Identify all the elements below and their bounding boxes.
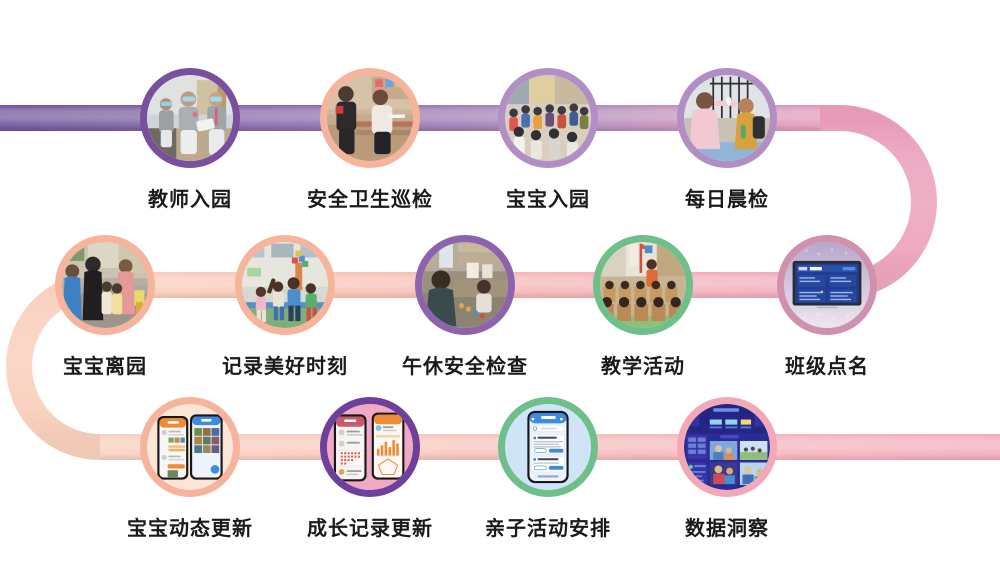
node-label: 亲子活动安排 xyxy=(485,512,611,541)
photo-nap-safety xyxy=(422,242,508,328)
timeline-node xyxy=(140,68,240,168)
node-label: 记录美好时刻 xyxy=(222,350,348,379)
node-label: 教学活动 xyxy=(601,350,685,379)
timeline-node xyxy=(140,397,240,497)
timeline-node xyxy=(55,235,155,335)
photo-teaching-activity xyxy=(600,242,686,328)
photo-safety-inspection xyxy=(327,75,413,161)
timeline-node xyxy=(320,68,420,168)
timeline-node xyxy=(677,397,777,497)
timeline-node xyxy=(415,235,515,335)
timeline-node xyxy=(235,235,335,335)
node-ring[interactable] xyxy=(235,235,335,335)
node-ring[interactable] xyxy=(677,397,777,497)
photo-class-rollcall xyxy=(784,242,870,328)
node-ring[interactable] xyxy=(498,397,598,497)
timeline-node xyxy=(777,235,877,335)
photo-data-insight xyxy=(684,404,770,490)
timeline-node xyxy=(498,68,598,168)
node-label: 宝宝入园 xyxy=(506,183,590,212)
node-ring[interactable] xyxy=(593,235,693,335)
node-ring[interactable] xyxy=(140,68,240,168)
photo-morning-check xyxy=(684,75,770,161)
photo-happy-moment xyxy=(242,242,328,328)
photo-child-pickup xyxy=(62,242,148,328)
node-ring[interactable] xyxy=(140,397,240,497)
node-ring[interactable] xyxy=(415,235,515,335)
infographic-canvas: 教师入园 xyxy=(0,0,1000,563)
timeline-node xyxy=(593,235,693,335)
photo-feed-update xyxy=(147,404,233,490)
node-label: 宝宝离园 xyxy=(63,350,147,379)
node-label: 宝宝动态更新 xyxy=(127,512,253,541)
node-label: 安全卫生巡检 xyxy=(307,183,433,212)
node-ring[interactable] xyxy=(320,68,420,168)
node-label: 教师入园 xyxy=(148,183,232,212)
photo-teacher-entry xyxy=(147,75,233,161)
node-ring[interactable] xyxy=(498,68,598,168)
photo-child-arrival xyxy=(505,75,591,161)
node-ring[interactable] xyxy=(55,235,155,335)
node-ring[interactable] xyxy=(677,68,777,168)
node-label: 成长记录更新 xyxy=(307,512,433,541)
node-label: 午休安全检查 xyxy=(402,350,528,379)
photo-growth-record xyxy=(327,404,413,490)
photo-parent-child-activity xyxy=(505,404,591,490)
timeline-node xyxy=(498,397,598,497)
timeline-node xyxy=(320,397,420,497)
node-ring[interactable] xyxy=(777,235,877,335)
node-label: 每日晨检 xyxy=(685,183,769,212)
timeline-node xyxy=(677,68,777,168)
node-label: 班级点名 xyxy=(785,350,869,379)
node-label: 数据洞察 xyxy=(685,512,769,541)
node-ring[interactable] xyxy=(320,397,420,497)
